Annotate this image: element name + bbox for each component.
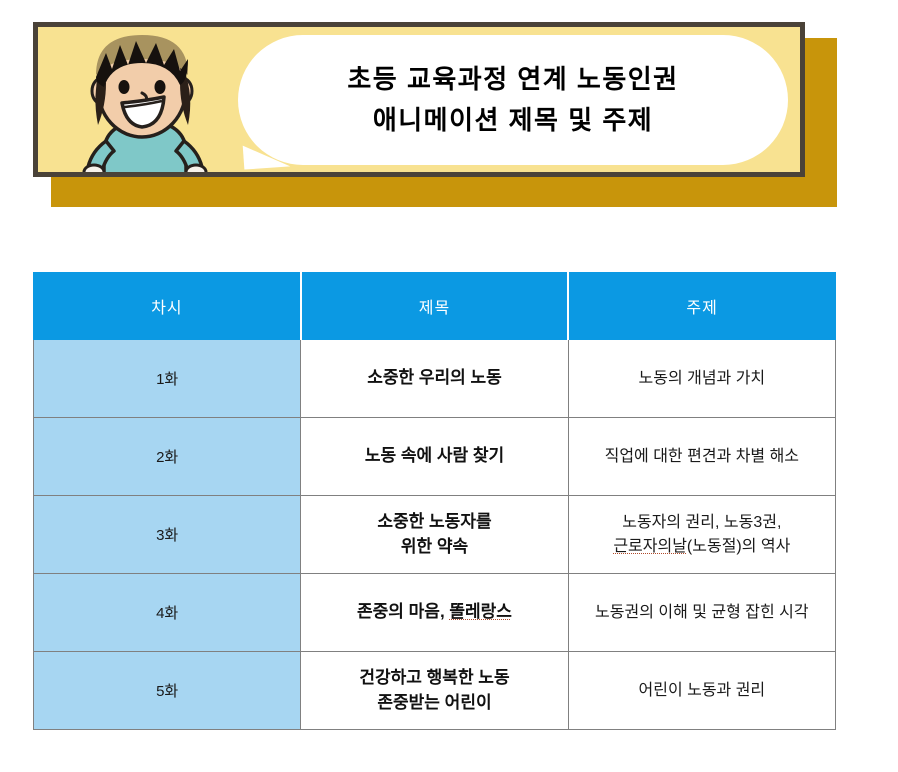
cell-title: 노동 속에 사람 찾기 (301, 418, 568, 496)
table-row: 1화 소중한 우리의 노동 노동의 개념과 가치 (34, 340, 836, 418)
table-row: 2화 노동 속에 사람 찾기 직업에 대한 편견과 차별 해소 (34, 418, 836, 496)
page-title-line-1: 초등 교육과정 연계 노동인권 (347, 65, 678, 94)
table-body: 1화 소중한 우리의 노동 노동의 개념과 가치 2화 노동 속에 사람 찾기 … (34, 340, 836, 730)
cell-theme-line-1: 노동권의 이해 및 균형 잡힌 시각 (569, 601, 835, 624)
cell-title-line-2: 존중받는 어린이 (301, 691, 567, 716)
table-header: 차시 제목 주제 (34, 273, 836, 340)
cell-theme: 어린이 노동과 권리 (568, 652, 835, 730)
page-title-line-2: 애니메이션 제목 및 주제 (373, 106, 653, 135)
column-header-theme: 주제 (568, 273, 835, 340)
cell-title-line-2: 위한 약속 (301, 535, 567, 560)
cell-theme-line-1: 노동의 개념과 가치 (569, 367, 835, 390)
cell-title-line-1-lead: 존중의 마음, (357, 602, 449, 621)
cell-title: 소중한 노동자를 위한 약속 (301, 496, 568, 574)
cell-episode: 4화 (34, 574, 301, 652)
cell-theme: 노동자의 권리, 노동3권, 근로자의날(노동절)의 역사 (568, 496, 835, 574)
cell-theme-line-1: 노동자의 권리, 노동3권, (569, 511, 835, 534)
smiling-boy-character-icon (66, 29, 216, 177)
cell-episode: 1화 (34, 340, 301, 418)
cell-episode: 3화 (34, 496, 301, 574)
cell-theme: 노동의 개념과 가치 (568, 340, 835, 418)
cell-title-line-1: 존중의 마음, 똘레랑스 (301, 600, 567, 625)
cell-title-line-1: 소중한 노동자를 (301, 510, 567, 535)
spellcheck-flagged-text: 똘레랑스 (449, 602, 512, 621)
cell-episode: 2화 (34, 418, 301, 496)
cell-episode: 5화 (34, 652, 301, 730)
table-header-row: 차시 제목 주제 (34, 273, 836, 340)
banner-frame: 초등 교육과정 연계 노동인권 애니메이션 제목 및 주제 (33, 22, 805, 177)
table-row: 4화 존중의 마음, 똘레랑스 노동권의 이해 및 균형 잡힌 시각 (34, 574, 836, 652)
cell-title: 소중한 우리의 노동 (301, 340, 568, 418)
cell-title: 존중의 마음, 똘레랑스 (301, 574, 568, 652)
table-row: 5화 건강하고 행복한 노동 존중받는 어린이 어린이 노동과 권리 (34, 652, 836, 730)
episode-table: 차시 제목 주제 1화 소중한 우리의 노동 노동의 개념과 가치 2화 노동 … (33, 272, 836, 730)
column-header-episode: 차시 (34, 273, 301, 340)
table-row: 3화 소중한 노동자를 위한 약속 노동자의 권리, 노동3권, 근로자의날(노… (34, 496, 836, 574)
spellcheck-flagged-text: 근로자의날 (613, 538, 687, 555)
cell-theme-line-1: 어린이 노동과 권리 (569, 679, 835, 702)
cell-theme: 직업에 대한 편견과 차별 해소 (568, 418, 835, 496)
cell-theme: 노동권의 이해 및 균형 잡힌 시각 (568, 574, 835, 652)
speech-bubble: 초등 교육과정 연계 노동인권 애니메이션 제목 및 주제 (238, 35, 788, 172)
cell-theme-line-2-rest: (노동절)의 역사 (687, 538, 790, 555)
cell-title-line-1: 건강하고 행복한 노동 (301, 666, 567, 691)
cell-title-line-1: 노동 속에 사람 찾기 (301, 444, 567, 469)
column-header-title: 제목 (301, 273, 568, 340)
cell-title-line-1: 소중한 우리의 노동 (301, 366, 567, 391)
page-title: 초등 교육과정 연계 노동인권 애니메이션 제목 및 주제 (238, 35, 788, 165)
cell-theme-line-1: 직업에 대한 편견과 차별 해소 (569, 445, 835, 468)
header-banner: 초등 교육과정 연계 노동인권 애니메이션 제목 및 주제 (33, 22, 837, 207)
cell-theme-line-2: 근로자의날(노동절)의 역사 (569, 535, 835, 558)
cell-title: 건강하고 행복한 노동 존중받는 어린이 (301, 652, 568, 730)
